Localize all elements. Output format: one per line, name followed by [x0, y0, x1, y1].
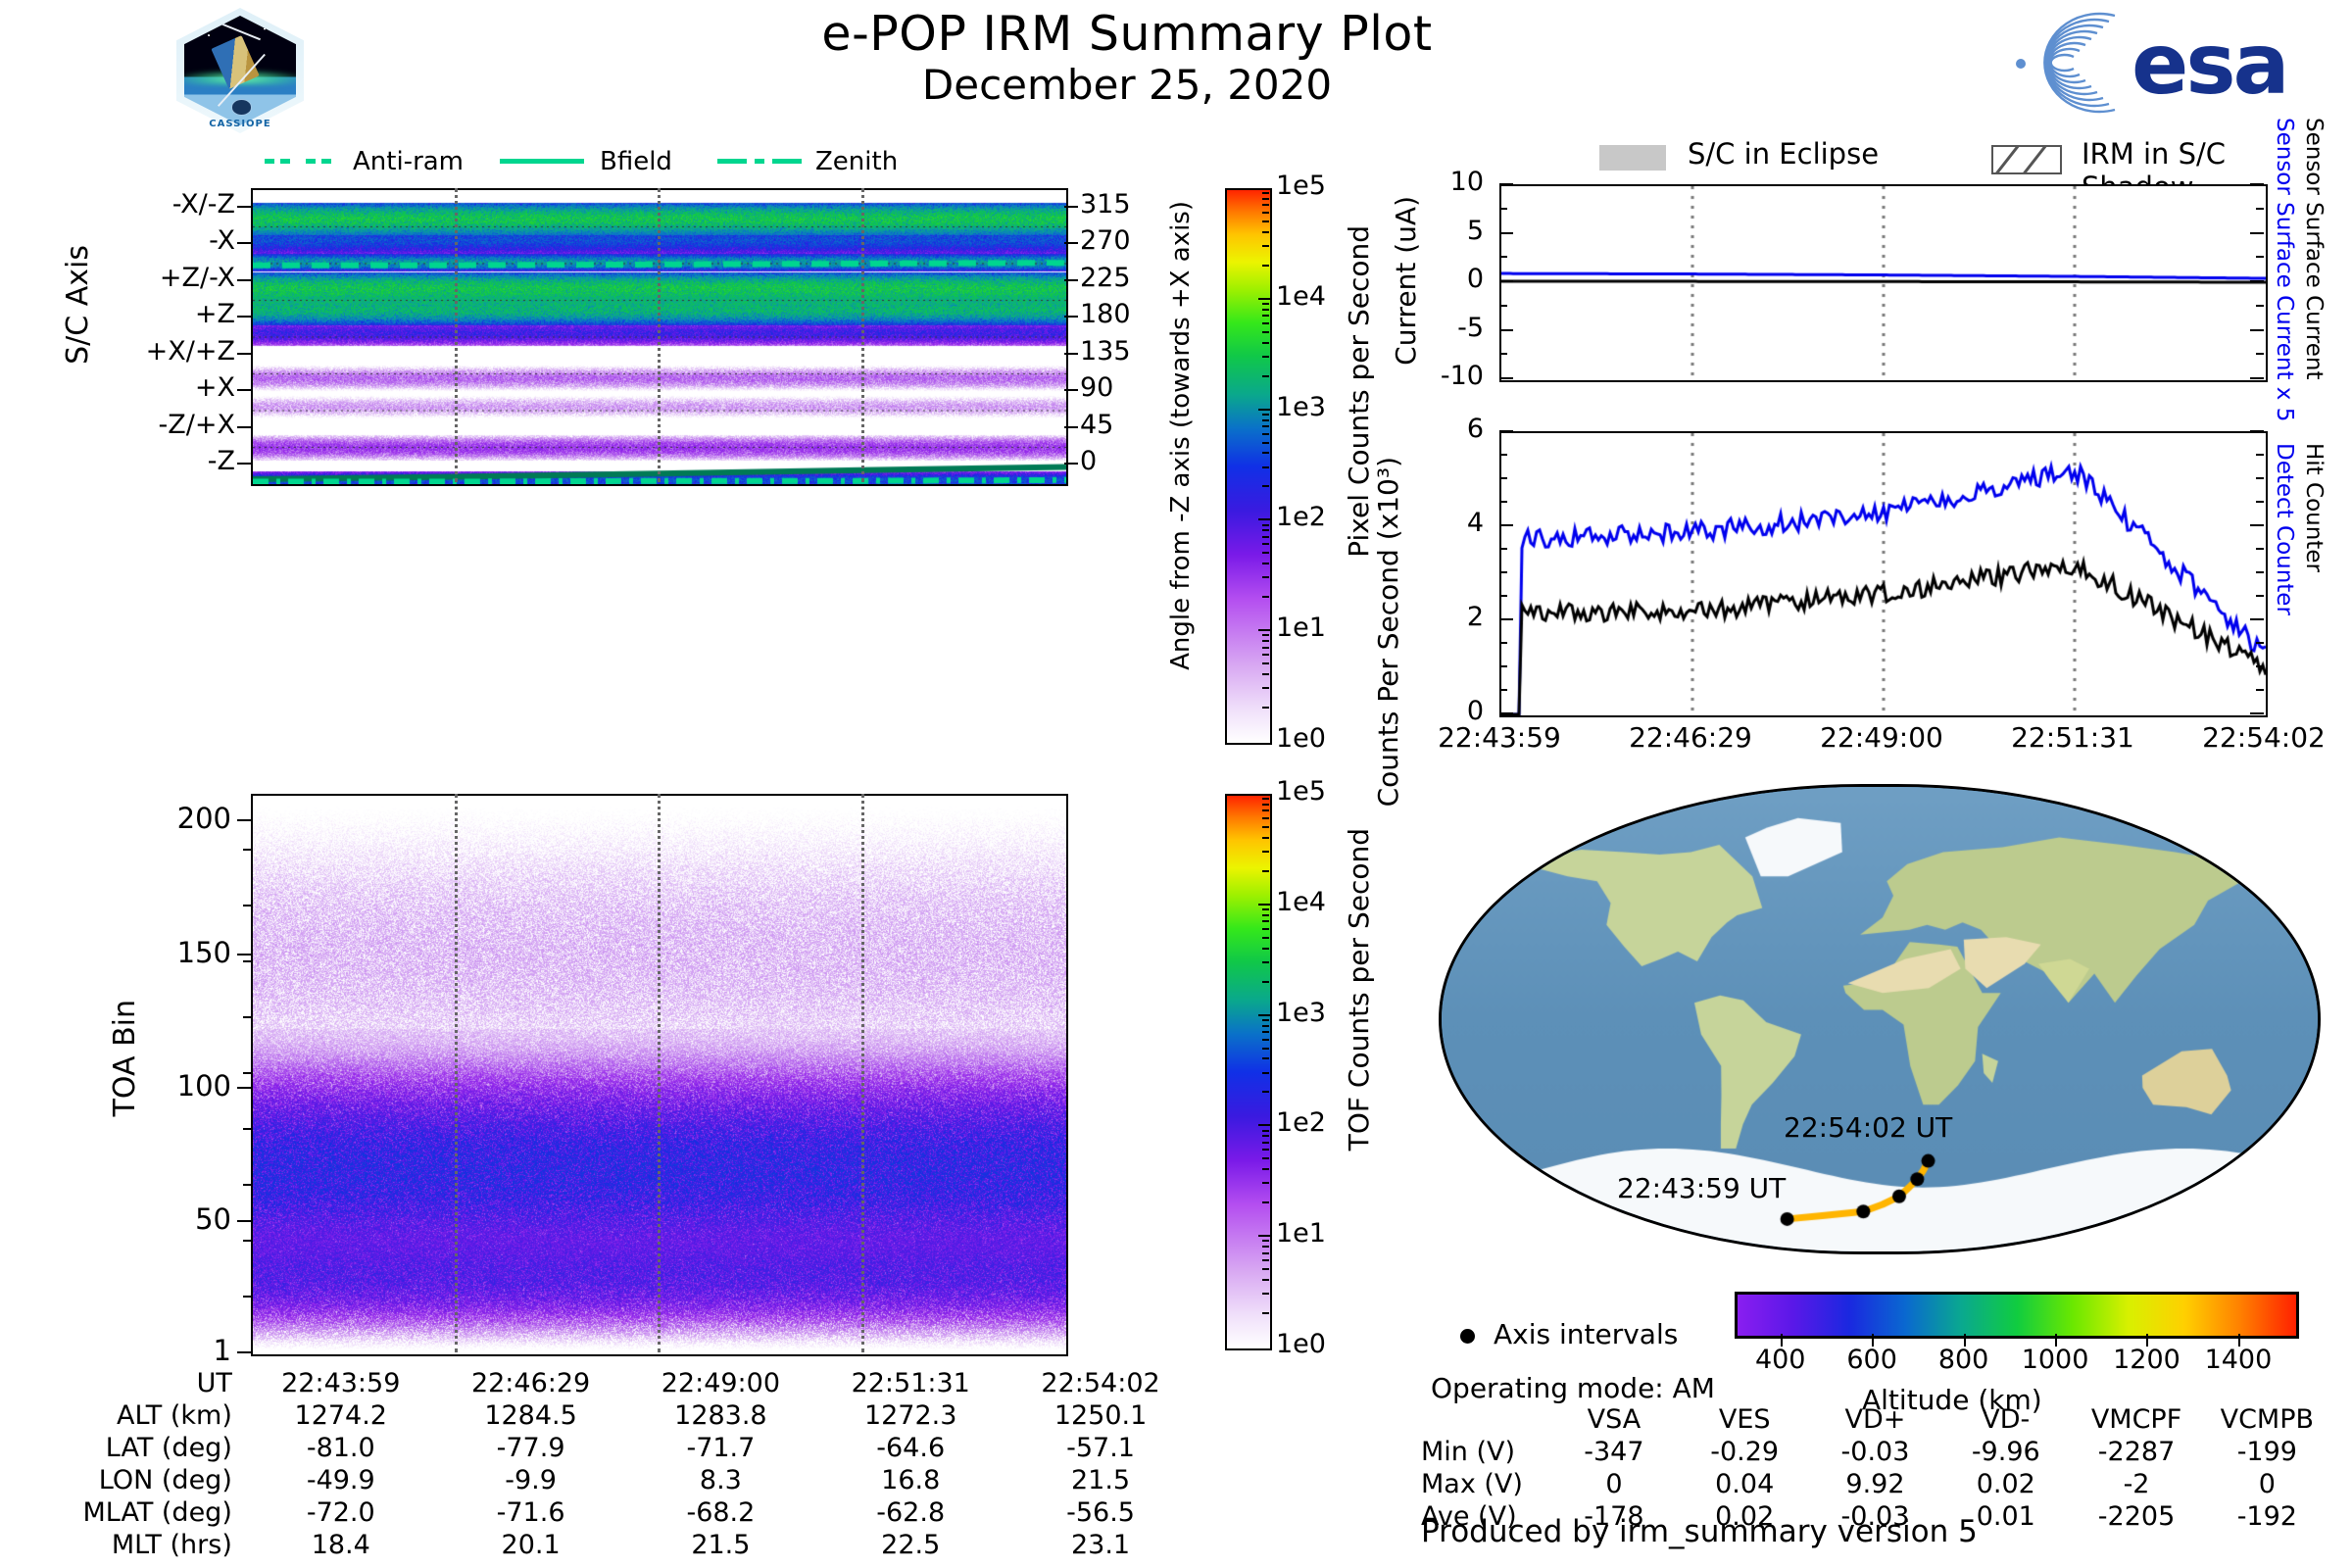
panel-pixel-ytick-left-3: +Z	[59, 299, 235, 329]
pixel-colorbar-minor	[1262, 596, 1269, 598]
panel-counts-minor-r	[2256, 548, 2264, 550]
pixel-colorbar-minor	[1262, 356, 1269, 358]
voltage-row-1: Max (V)00.049.920.02-20	[1421, 1468, 2332, 1500]
tof-colorbar-minor	[1262, 809, 1269, 811]
shadow-legend: S/C in Eclipse IRM in S/C Shadow	[1548, 135, 2332, 174]
ephemeris-cell-5-0: 18.4	[246, 1529, 436, 1561]
panel-pixel-ylabel-right: Angle from -Z axis (towards +X axis)	[1166, 201, 1196, 670]
ephemeris-cell-0-0: 22:43:59	[246, 1367, 436, 1399]
tof-colorbar-minor	[1262, 798, 1269, 800]
tof-colorbar-minor	[1262, 826, 1269, 828]
panel-toa-ytick-4: 1	[84, 1334, 231, 1367]
ephemeris-cell-1-1: 1284.5	[436, 1399, 626, 1432]
voltage-cell-1-0: 0	[1548, 1468, 1679, 1500]
ephemeris-cell-4-4: -56.5	[1005, 1496, 1196, 1529]
panel-toa-minor-tick	[243, 1184, 251, 1186]
tof-colorbar-minor	[1262, 1091, 1269, 1093]
tof-colorbar-minor	[1262, 928, 1269, 930]
voltage-cell-2-4: -2205	[2071, 1500, 2201, 1533]
panel-pixel-ytick-mark-left-1	[237, 242, 251, 244]
panel-counts-ytick-1: 4	[1394, 508, 1484, 538]
panel-toa-ytick-mark-0	[237, 819, 251, 821]
ephemeris-row-3: LON (deg)-49.9-9.98.316.821.5	[59, 1464, 1196, 1496]
altitude-tick-label-5: 1400	[2189, 1345, 2287, 1375]
current-canvas	[1501, 186, 2266, 380]
panel-current-minor-r	[2256, 183, 2264, 185]
panel-counts-minor	[1499, 642, 1507, 644]
pixel-colorbar-label-2: 1e3	[1276, 392, 1326, 422]
voltage-cell-2-5: -192	[2202, 1500, 2332, 1533]
pixel-colorbar-label: Pixel Counts per Second	[1343, 225, 1375, 558]
panel-counts-minor	[1499, 454, 1507, 456]
panel-pixel-ytick-right-6: 45	[1080, 410, 1113, 440]
panel-counts-minor	[1499, 595, 1507, 597]
panel-current-minor	[1499, 329, 1507, 331]
pixel-colorbar-minor	[1262, 212, 1269, 214]
panel-toa-ytick-mark-2	[237, 1087, 251, 1089]
pixel-colorbar-minor	[1262, 552, 1269, 554]
panel-counts-minor	[1499, 524, 1507, 526]
operating-mode-label: Operating mode: AM	[1431, 1372, 1715, 1404]
ephemeris-cell-2-1: -77.9	[436, 1432, 626, 1464]
panel-current-ytick-2: 0	[1394, 264, 1484, 294]
panel-pixel-ytick-mark-left-3	[237, 316, 251, 318]
ephemeris-cell-3-1: -9.9	[436, 1464, 626, 1496]
legend-zenith-dot	[755, 159, 764, 164]
pixel-colorbar-minor	[1262, 315, 1269, 317]
voltage-cell-0-1: -0.29	[1680, 1436, 1810, 1468]
voltage-cell-0-2: -0.03	[1810, 1436, 1940, 1468]
tof-colorbar-minor	[1262, 1157, 1269, 1159]
panel-toa-ytick-mark-4	[237, 1351, 251, 1353]
tof-colorbar-minor	[1262, 804, 1269, 806]
panel-pixel-ytick-mark-right-3	[1064, 316, 1078, 318]
panel-pixel-gridline-0	[455, 188, 458, 482]
panel-current-minor	[1499, 256, 1507, 258]
ephemeris-row-4: MLAT (deg)-72.0-71.6-68.2-62.8-56.5	[59, 1496, 1196, 1529]
cassiope-mission-patch: CASSIOPE	[176, 8, 304, 133]
ephemeris-cell-2-2: -71.7	[625, 1432, 815, 1464]
tof-colorbar-minor	[1262, 870, 1269, 872]
panel-counts-minor	[1499, 665, 1507, 667]
panel-toa-ytick-mark-1	[237, 954, 251, 955]
tof-colorbar-minor	[1262, 1279, 1269, 1281]
legend-anti-ram-dash-a	[265, 159, 290, 164]
panel-toa-ytick-mark-3	[237, 1220, 251, 1222]
tof-colorbar-minor	[1262, 1031, 1269, 1033]
ephemeris-row-2: LAT (deg)-81.0-77.9-71.7-64.6-57.1	[59, 1432, 1196, 1464]
ephemeris-row-label-4: MLAT (deg)	[59, 1496, 246, 1529]
ephemeris-cell-0-1: 22:46:29	[436, 1367, 626, 1399]
ephemeris-cell-3-2: 8.3	[625, 1464, 815, 1496]
pixel-colorbar-minor	[1262, 640, 1269, 642]
panel-current-minor	[1499, 232, 1507, 234]
legend-bfield-line	[500, 159, 584, 164]
pixel-colorbar-minor	[1262, 303, 1269, 305]
ephemeris-cell-4-1: -71.6	[436, 1496, 626, 1529]
panel-counts-minor-r	[2256, 524, 2264, 526]
panel-counts-ytick-2: 2	[1394, 602, 1484, 632]
pixel-colorbar-minor	[1262, 204, 1269, 206]
tof-colorbar-minor	[1262, 1142, 1269, 1144]
legend-label-bfield: Bfield	[600, 147, 672, 176]
ephemeris-cell-1-2: 1283.8	[625, 1399, 815, 1432]
panel-toa-ytick-1: 150	[84, 936, 231, 969]
tof-colorbar-minor	[1262, 1252, 1269, 1254]
panel-pixel-ytick-mark-left-4	[237, 353, 251, 355]
ephemeris-cell-1-0: 1274.2	[246, 1399, 436, 1432]
ephemeris-cell-0-3: 22:51:31	[815, 1367, 1005, 1399]
tof-colorbar-minor	[1262, 837, 1269, 839]
map-annotation-end: 22:54:02 UT	[1784, 1111, 1952, 1144]
tof-colorbar-minor	[1262, 937, 1269, 939]
ephemeris-cell-3-3: 16.8	[815, 1464, 1005, 1496]
pixel-colorbar-minor	[1262, 466, 1269, 468]
panel-current-minor-r	[2256, 377, 2264, 379]
legend-zenith-dash-a	[717, 159, 747, 164]
shadow-swatch-hatched	[1991, 145, 2062, 174]
pixel-colorbar-minor	[1262, 220, 1269, 222]
panel-current-minor-r	[2256, 208, 2264, 210]
pixel-colorbar-minor	[1262, 576, 1269, 578]
pixel-colorbar-tick-2	[1258, 409, 1270, 411]
pixel-colorbar-minor	[1262, 265, 1269, 267]
legend-label-zenith: Zenith	[815, 147, 898, 176]
tof-colorbar-tick-2	[1258, 1014, 1270, 1016]
pixel-colorbar-minor	[1262, 524, 1269, 526]
pixel-colorbar-label-4: 1e1	[1276, 612, 1326, 643]
tof-colorbar-minor	[1262, 981, 1269, 983]
tof-colorbar-minor	[1262, 1182, 1269, 1184]
ephemeris-cell-4-0: -72.0	[246, 1496, 436, 1529]
esa-wordmark: esa	[2131, 16, 2287, 114]
tof-colorbar-label: TOF Counts per Second	[1343, 828, 1375, 1151]
tof-colorbar-label-2: 1e3	[1276, 998, 1326, 1028]
panel-counts-minor	[1499, 712, 1507, 714]
tof-colorbar-minor	[1262, 1048, 1269, 1050]
pixel-colorbar-minor	[1262, 634, 1269, 636]
voltage-cell-1-3: 0.02	[1940, 1468, 2071, 1500]
tof-colorbar-minor	[1262, 1135, 1269, 1137]
panel-pixel-ytick-mark-left-5	[237, 389, 251, 391]
altitude-tick-label-1: 600	[1823, 1345, 1921, 1375]
right-label-sensor-current: Sensor Surface Current	[2301, 118, 2327, 379]
pixel-colorbar-minor	[1262, 322, 1269, 324]
panel-counts-minor-r	[2256, 571, 2264, 573]
voltage-col-header-1: VES	[1680, 1403, 1810, 1436]
voltage-row-label-1: Max (V)	[1421, 1468, 1548, 1500]
ephemeris-row-label-5: MLT (hrs)	[59, 1529, 246, 1561]
tof-colorbar-minor	[1262, 1201, 1269, 1203]
pixel-colorbar-minor	[1262, 231, 1269, 233]
pixel-colorbar-minor	[1262, 375, 1269, 377]
panel-counts-minor	[1499, 501, 1507, 503]
eclipse-swatch	[1599, 145, 1666, 171]
ephemeris-table-grid: UT22:43:5922:46:2922:49:0022:51:3122:54:…	[59, 1367, 1196, 1561]
right-label-sensor-current-x5: Sensor Surface Current x 5	[2272, 118, 2297, 421]
pixel-colorbar-minor	[1262, 414, 1269, 416]
map-annotation-start: 22:43:59 UT	[1617, 1172, 1786, 1204]
panel-toa-minor-tick	[243, 1240, 251, 1242]
panel-current-ytick-1: 5	[1394, 216, 1484, 246]
ephemeris-cell-4-3: -62.8	[815, 1496, 1005, 1529]
panel-current-minor-r	[2256, 232, 2264, 234]
counts-canvas	[1501, 433, 2266, 715]
legend-anti-ram-dash-b	[306, 159, 331, 164]
tof-colorbar-minor	[1262, 1259, 1269, 1261]
panel-counts-minor-r	[2256, 477, 2264, 479]
panel-counts-minor	[1499, 571, 1507, 573]
panel-pixel-ytick-mark-left-7	[237, 463, 251, 465]
legend-label-anti-ram: Anti-ram	[353, 147, 464, 176]
tof-colorbar-minor	[1262, 1240, 1269, 1242]
panel-counts-minor-r	[2256, 454, 2264, 456]
tof-colorbar-minor	[1262, 1072, 1269, 1074]
pixel-colorbar-minor	[1262, 419, 1269, 421]
voltage-col-header-0: VSA	[1548, 1403, 1679, 1436]
tof-colorbar-minor	[1262, 908, 1269, 910]
panel-pixel-ytick-right-2: 225	[1080, 263, 1131, 293]
pixel-colorbar-minor	[1262, 673, 1269, 675]
ephemeris-cell-3-4: 21.5	[1005, 1464, 1196, 1496]
counter-rate-plot[interactable]	[1499, 431, 2268, 717]
tof-colorbar-minor	[1262, 1293, 1269, 1295]
panel-toa-ytick-0: 200	[84, 802, 231, 835]
ephemeris-cell-3-0: -49.9	[246, 1464, 436, 1496]
ephemeris-row-label-1: ALT (km)	[59, 1399, 246, 1432]
pixel-colorbar-minor	[1262, 543, 1269, 545]
panel-toa-minor-tick	[243, 905, 251, 906]
panel-pixel-ytick-right-1: 270	[1080, 225, 1131, 256]
panel-pixel-ytick-mark-right-7	[1064, 463, 1078, 465]
patch-inner-badge	[231, 99, 252, 116]
pixel-colorbar-tick-1	[1258, 298, 1270, 300]
page-title: e-POP IRM Summary Plot	[686, 6, 1568, 62]
pixel-colorbar-minor	[1262, 536, 1269, 538]
panel-pixel-ytick-left-4: +X/+Z	[59, 336, 235, 367]
tof-colorbar-label-1: 1e4	[1276, 887, 1326, 917]
panel-current-minor-r	[2256, 256, 2264, 258]
pixel-colorbar-minor	[1262, 452, 1269, 454]
voltage-col-header-3: VD-	[1940, 1403, 2071, 1436]
pixel-colorbar-minor	[1262, 309, 1269, 311]
panel-pixel-ytick-mark-right-6	[1064, 426, 1078, 428]
voltage-cell-1-4: -2	[2071, 1468, 2201, 1500]
panel-pixel-ytick-right-4: 135	[1080, 336, 1131, 367]
ephemeris-cell-1-4: 1250.1	[1005, 1399, 1196, 1432]
pixel-colorbar-minor	[1262, 529, 1269, 531]
panel-counts-minor-r	[2256, 595, 2264, 597]
pixel-colorbar-minor	[1262, 707, 1269, 709]
panel-current-minor	[1499, 353, 1507, 355]
pixel-colorbar-label-0: 1e5	[1276, 171, 1326, 201]
panel-counts-minor	[1499, 430, 1507, 432]
panel-counts-minor-r	[2256, 665, 2264, 667]
tof-colorbar-minor	[1262, 1149, 1269, 1151]
panel-pixel-ytick-mark-right-2	[1064, 279, 1078, 281]
panel-pixel-ytick-mark-right-5	[1064, 389, 1078, 391]
ephemeris-row-label-0: UT	[59, 1367, 246, 1399]
tof-colorbar-tick-1	[1258, 904, 1270, 906]
map-canvas	[1442, 787, 2321, 1254]
tof-colorbar-minor	[1262, 1268, 1269, 1270]
altitude-tick-label-2: 800	[1915, 1345, 2013, 1375]
ephemeris-cell-5-1: 20.1	[436, 1529, 626, 1561]
tof-colorbar-label-0: 1e5	[1276, 776, 1326, 807]
ephemeris-cell-5-3: 22.5	[815, 1529, 1005, 1561]
tof-colorbar-label-4: 1e1	[1276, 1218, 1326, 1249]
panel-toa-gridline-1	[658, 794, 661, 1352]
orbit-world-map[interactable]: 22:54:02 UT 22:43:59 UT	[1439, 784, 2321, 1254]
panel-current-minor-r	[2256, 329, 2264, 331]
panel-current-ytick-0: 10	[1394, 167, 1484, 197]
voltage-cell-0-0: -347	[1548, 1436, 1679, 1468]
tof-colorbar-minor	[1262, 817, 1269, 819]
panel-counts-minor	[1499, 618, 1507, 620]
altitude-tick-label-3: 1000	[2006, 1345, 2104, 1375]
ephemeris-cell-1-3: 1272.3	[815, 1399, 1005, 1432]
pixel-colorbar-minor	[1262, 425, 1269, 427]
legend-label-eclipse: S/C in Eclipse	[1688, 137, 1879, 171]
panel-pixel-ytick-left-0: -X/-Z	[59, 189, 235, 220]
panel-toa-ytick-3: 50	[84, 1202, 231, 1236]
panel-pixel-ytick-mark-right-0	[1064, 206, 1078, 208]
voltage-cell-0-3: -9.96	[1940, 1436, 2071, 1468]
pixel-colorbar-tick-3	[1258, 518, 1270, 520]
axis-interval-dot-icon	[1460, 1329, 1475, 1344]
pixel-colorbar-minor	[1262, 433, 1269, 435]
altitude-colorbar	[1735, 1292, 2299, 1339]
ephemeris-cell-0-4: 22:54:02	[1005, 1367, 1196, 1399]
right-label-hit-counter: Hit Counter	[2301, 443, 2327, 572]
panel-toa-minor-tick	[243, 1072, 251, 1074]
right-time-tick-1: 22:46:29	[1592, 721, 1788, 754]
pixel-colorbar-minor	[1262, 563, 1269, 564]
ephemeris-cell-2-4: -57.1	[1005, 1432, 1196, 1464]
panel-pixel-ytick-mark-right-1	[1064, 242, 1078, 244]
pixel-colorbar-minor	[1262, 687, 1269, 689]
pixel-colorbar-minor	[1262, 662, 1269, 664]
tof-colorbar-label-3: 1e2	[1276, 1107, 1326, 1138]
patch-label: CASSIOPE	[176, 119, 304, 129]
pixel-colorbar-label-1: 1e4	[1276, 281, 1326, 312]
esa-logo: esa	[1999, 10, 2334, 116]
voltage-cell-1-1: 0.04	[1680, 1468, 1810, 1500]
panel-current-minor-r	[2256, 353, 2264, 355]
panel-current-minor	[1499, 377, 1507, 379]
right-time-tick-0: 22:43:59	[1401, 721, 1597, 754]
voltage-corner-cell	[1421, 1403, 1548, 1436]
panel-current-minor	[1499, 183, 1507, 185]
ephemeris-row-0: UT22:43:5922:46:2922:49:0022:51:3122:54:…	[59, 1367, 1196, 1399]
pixel-colorbar-minor	[1262, 342, 1269, 344]
right-time-tick-2: 22:49:00	[1784, 721, 1980, 754]
panel-toa-minor-tick	[243, 960, 251, 962]
panel-toa-gridline-0	[455, 794, 458, 1352]
panel-counts-minor-r	[2256, 642, 2264, 644]
pixel-colorbar-minor	[1262, 485, 1269, 487]
panel-counts-minor-r	[2256, 618, 2264, 620]
tof-colorbar-minor	[1262, 851, 1269, 853]
ephemeris-row-1: ALT (km)1274.21284.51283.81272.31250.1	[59, 1399, 1196, 1432]
panel-toa-gridline-2	[861, 794, 864, 1352]
produced-by-footer: Produced by irm_summary version 5	[1421, 1514, 1978, 1549]
tof-colorbar-tick-4	[1258, 1235, 1270, 1237]
panel-counts-minor	[1499, 477, 1507, 479]
tof-colorbar-minor	[1262, 948, 1269, 950]
panel-toa-minor-tick	[243, 849, 251, 851]
tof-colorbar-minor	[1262, 1039, 1269, 1041]
map-globe-shape	[1439, 784, 2321, 1254]
tof-colorbar-tick-3	[1258, 1124, 1270, 1126]
voltage-cell-1-5: 0	[2202, 1468, 2332, 1500]
panel-pixel-ytick-mark-right-4	[1064, 353, 1078, 355]
panel-current-ytick-3: -5	[1394, 313, 1484, 343]
panel-pixel-ytick-right-0: 315	[1080, 189, 1131, 220]
panel-counts-minor-r	[2256, 430, 2264, 432]
tof-colorbar-label-5: 1e0	[1276, 1329, 1326, 1359]
spectrogram-legend: Anti-ram Bfield Zenith	[265, 145, 892, 178]
panel-current-ytick-4: -10	[1394, 361, 1484, 391]
voltage-col-header-2: VD+	[1810, 1403, 1940, 1436]
right-time-tick-4: 22:54:02	[2166, 721, 2352, 754]
pixel-colorbar-label-3: 1e2	[1276, 502, 1326, 532]
axis-interval-label: Axis intervals	[1494, 1318, 1678, 1350]
panel-counts-ytick-0: 6	[1394, 414, 1484, 444]
legend-zenith-dash-b	[772, 159, 802, 164]
pixel-colorbar-minor	[1262, 331, 1269, 333]
voltage-col-header-5: VCMPB	[2202, 1403, 2332, 1436]
panel-pixel-ytick-right-3: 180	[1080, 299, 1131, 329]
page-subtitle: December 25, 2020	[686, 61, 1568, 109]
panel-pixel-ytick-mark-left-2	[237, 279, 251, 281]
panel-counts-minor-r	[2256, 501, 2264, 503]
tof-colorbar-minor	[1262, 961, 1269, 963]
voltage-row-0: Min (V)-347-0.29-0.03-9.96-2287-199	[1421, 1436, 2332, 1468]
panel-pixel-ytick-right-7: 0	[1080, 446, 1097, 476]
esa-swirl-icon	[1999, 10, 2127, 116]
panel-pixel-ytick-right-5: 90	[1080, 372, 1113, 403]
tof-colorbar-minor	[1262, 1019, 1269, 1021]
right-label-detect-counter: Detect Counter	[2272, 443, 2297, 615]
voltage-row-label-0: Min (V)	[1421, 1436, 1548, 1468]
ephemeris-row-5: MLT (hrs)18.420.121.522.523.1	[59, 1529, 1196, 1561]
altitude-tick-label-4: 1200	[2097, 1345, 2195, 1375]
pixel-colorbar-minor	[1262, 245, 1269, 247]
panel-current-minor	[1499, 280, 1507, 282]
ephemeris-cell-0-2: 22:49:00	[625, 1367, 815, 1399]
panel-pixel-ytick-mark-left-0	[237, 206, 251, 208]
panel-pixel-ytick-left-2: +Z/-X	[59, 263, 235, 293]
ephemeris-cell-2-0: -81.0	[246, 1432, 436, 1464]
ephemeris-table: UT22:43:5922:46:2922:49:0022:51:3122:54:…	[59, 1367, 1196, 1561]
panel-current-minor-r	[2256, 280, 2264, 282]
panel-pixel-ytick-left-6: -Z/+X	[59, 410, 235, 440]
panel-counts-minor-r	[2256, 689, 2264, 691]
pixel-colorbar-tick-4	[1258, 629, 1270, 631]
ephemeris-cell-5-2: 21.5	[625, 1529, 815, 1561]
panel-toa-minor-tick	[243, 1296, 251, 1298]
right-time-tick-3: 22:51:31	[1975, 721, 2171, 754]
panel-counts-minor	[1499, 548, 1507, 550]
panel-toa-ytick-2: 100	[84, 1069, 231, 1102]
sensor-current-plot[interactable]	[1499, 184, 2268, 382]
pixel-colorbar-minor	[1262, 442, 1269, 444]
panel-pixel-gridline-2	[861, 188, 864, 482]
panel-current-minor-r	[2256, 305, 2264, 307]
tof-colorbar-minor	[1262, 1168, 1269, 1170]
voltage-cell-0-5: -199	[2202, 1436, 2332, 1468]
